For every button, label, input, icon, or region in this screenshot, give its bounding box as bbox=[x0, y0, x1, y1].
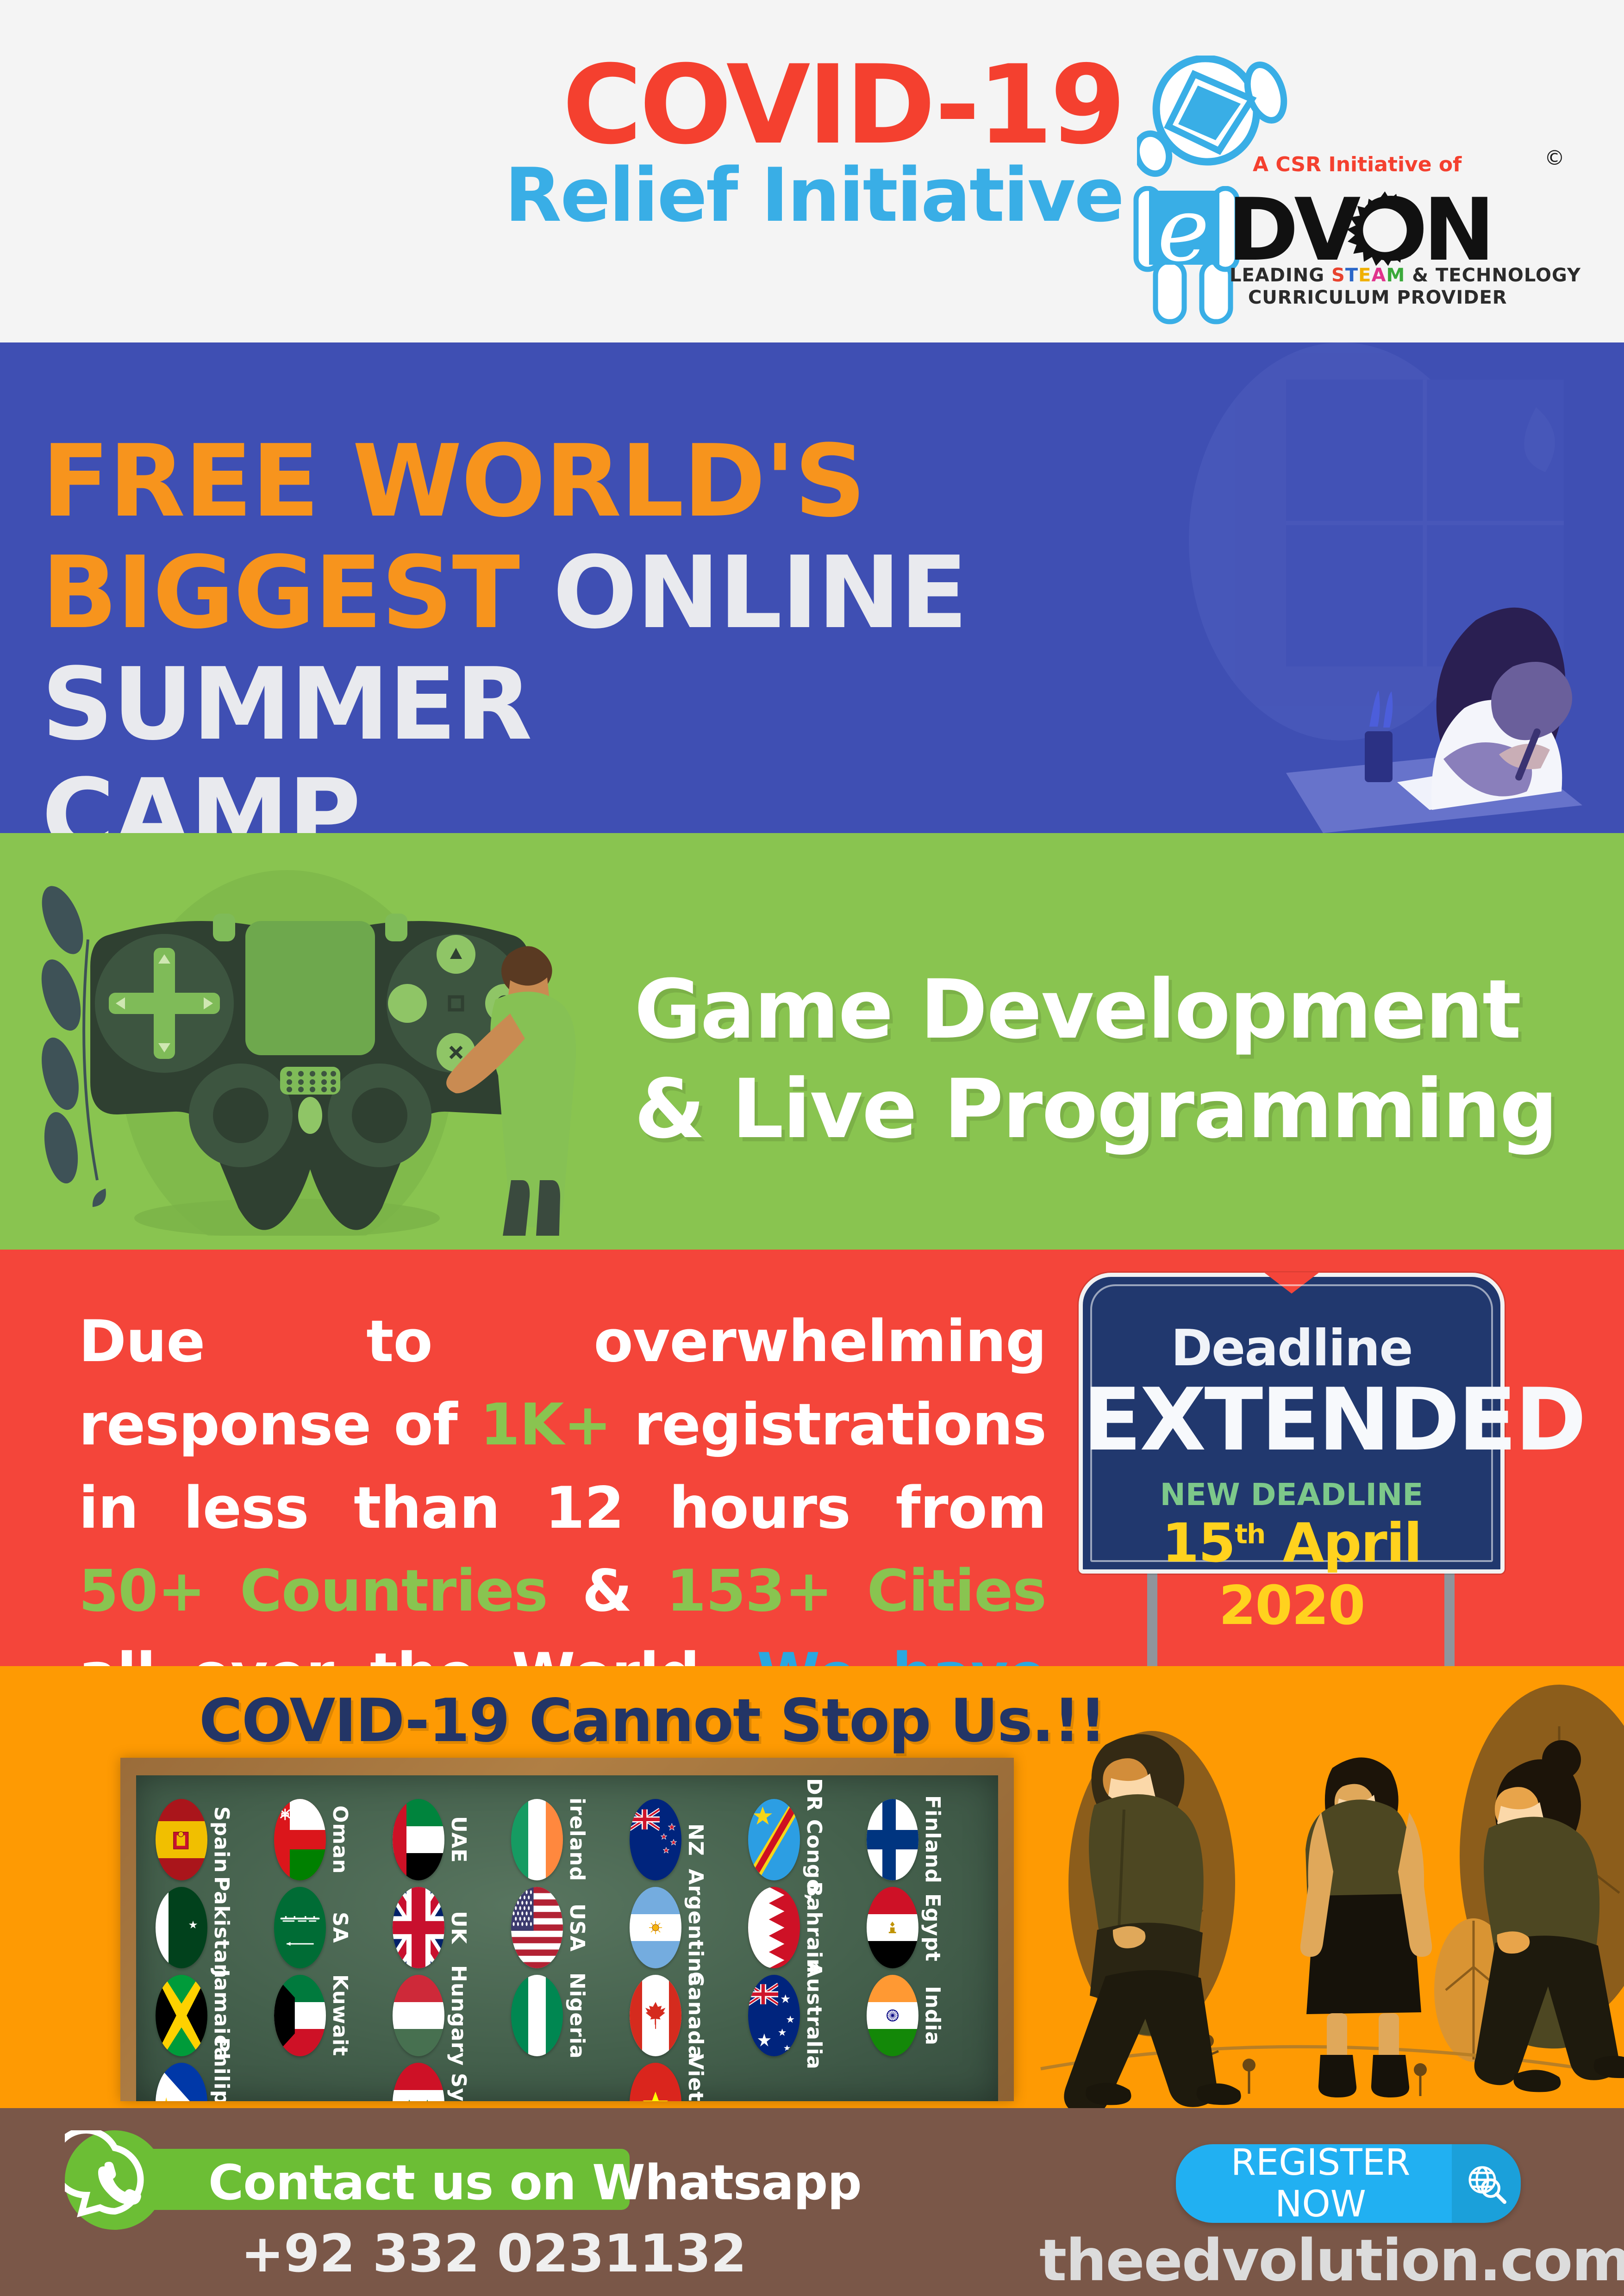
sign-new-deadline-label: NEW DEADLINE bbox=[1083, 1477, 1500, 1512]
flag-label: USA bbox=[567, 1904, 587, 1952]
masked-people-illustration bbox=[1013, 1671, 1624, 2108]
flag-cell-syria: Syria bbox=[393, 2060, 511, 2101]
course-line2: & Live Programming bbox=[634, 1062, 1557, 1157]
flag-bh-icon bbox=[748, 1887, 800, 1968]
hero-section: FREE WORLD'S BIGGEST ONLINE SUMMER CAMP bbox=[0, 342, 1624, 833]
chalkboard: SpainOmanUAEirelandNZDR Congo,FinlandPak… bbox=[120, 1758, 1014, 2101]
flag-ng-icon bbox=[511, 1975, 563, 2056]
flag-ca-icon bbox=[630, 1975, 681, 2056]
edvon-logo: A CSR Initiative of © e DVON bbox=[1137, 56, 1581, 296]
ann-part-5: 153+ Cities bbox=[666, 1558, 1046, 1624]
flag-cell-india: India bbox=[867, 1972, 985, 2060]
globe-search-icon bbox=[1451, 2161, 1521, 2206]
edvon-e-letter: e bbox=[1157, 186, 1209, 274]
flag-label: Canada bbox=[685, 1972, 706, 2060]
sign-extended-word: EXTENDED bbox=[1083, 1369, 1500, 1470]
flag-cell-sa: SA bbox=[274, 1884, 393, 1972]
chalkboard-surface: SpainOmanUAEirelandNZDR Congo,FinlandPak… bbox=[136, 1775, 998, 2101]
flag-cell-uk: UK bbox=[393, 1884, 511, 1972]
register-now-button[interactable]: REGISTER NOW bbox=[1176, 2144, 1521, 2223]
flag-ph-icon bbox=[156, 2063, 207, 2101]
countries-section: COVID-19 Cannot Stop Us.!! bbox=[0, 1666, 1624, 2108]
logo-tagline-line2: CURRICULUM PROVIDER bbox=[1248, 287, 1507, 308]
course-line1: Game Development bbox=[634, 962, 1520, 1057]
flag-ie-icon bbox=[511, 1799, 563, 1880]
logo-tagline-line1: LEADING STEAM & TECHNOLOGY bbox=[1230, 265, 1581, 286]
flag-cell-empty bbox=[748, 2060, 867, 2101]
flag-kw-icon bbox=[274, 1975, 326, 2056]
flag-vn-icon bbox=[630, 2063, 681, 2101]
flag-cell-empty bbox=[274, 2060, 393, 2101]
website-url[interactable]: theedvolution.com/camp bbox=[1039, 2228, 1624, 2294]
deadline-sign: Deadline EXTENDED NEW DEADLINE 15th Apri… bbox=[1065, 1268, 1528, 1666]
flag-label: Kuwait bbox=[330, 1974, 350, 2056]
flag-sa-icon bbox=[274, 1887, 326, 1968]
flag-cell-oman: Oman bbox=[274, 1796, 393, 1884]
flag-cell-kuwait: Kuwait bbox=[274, 1972, 393, 2060]
flag-label: Spain bbox=[211, 1806, 231, 1873]
csr-initiative-note: A CSR Initiative of bbox=[1253, 153, 1462, 176]
poster-footer: Contact us on Whatsapp +92 332 0231132 R… bbox=[0, 2108, 1624, 2296]
hero-heading: FREE WORLD'S BIGGEST ONLINE SUMMER CAMP bbox=[42, 426, 1384, 833]
flag-cell-argentina: Argentina bbox=[630, 1884, 748, 1972]
flag-sy-icon bbox=[393, 2063, 444, 2101]
sign-date: 15th April 2020 bbox=[1083, 1512, 1500, 1637]
sign-deadline-word: Deadline bbox=[1083, 1319, 1500, 1377]
header-titles: COVID-19 Relief Initiative bbox=[505, 56, 1123, 232]
whatsapp-label: Contact us on Whatsapp bbox=[208, 2154, 862, 2211]
ann-part-1: 1K+ bbox=[480, 1392, 611, 1458]
flag-label: Bahrain bbox=[804, 1881, 824, 1973]
flag-cell-philippines: Philippines bbox=[156, 2060, 274, 2101]
sign-date-day: 15 bbox=[1162, 1512, 1235, 1574]
whatsapp-number[interactable]: +92 332 0231132 bbox=[241, 2224, 746, 2284]
flag-cell-usa: USA bbox=[511, 1884, 630, 1972]
flag-cell-hungary: Hungary bbox=[393, 1972, 511, 2060]
flag-label: SA bbox=[330, 1912, 350, 1943]
flag-cell-drcongo: DR Congo, bbox=[748, 1796, 867, 1884]
flag-label: Hungary bbox=[448, 1965, 468, 2066]
flag-cell-canada: Canada bbox=[630, 1972, 748, 2060]
flag-label: Nigeria bbox=[567, 1972, 587, 2059]
flag-label: NZ bbox=[685, 1823, 706, 1856]
flag-label: ireland bbox=[567, 1798, 587, 1881]
ann-part-3: 50+ Countries bbox=[79, 1558, 548, 1624]
sign-date-ordinal: th bbox=[1235, 1518, 1265, 1549]
flag-label: Syria bbox=[448, 2073, 468, 2101]
flag-label: Oman bbox=[330, 1805, 350, 1874]
flag-label: UK bbox=[448, 1911, 468, 1944]
flag-label: Australia bbox=[804, 1962, 824, 2070]
flag-eg-icon bbox=[867, 1887, 918, 1968]
flag-gb-icon bbox=[393, 1887, 444, 1968]
course-section: Game Development & Live Programming bbox=[0, 833, 1624, 1250]
announcement-text: Due to overwhelming response of 1K+ regi… bbox=[79, 1300, 1046, 1666]
hero-line3: CAMP bbox=[42, 757, 360, 833]
gear-icon bbox=[1344, 190, 1425, 271]
flag-label: Philippines bbox=[211, 2037, 231, 2101]
whatsapp-icon bbox=[65, 2130, 164, 2230]
flag-label: Finland bbox=[922, 1795, 943, 1884]
country-flag-grid: SpainOmanUAEirelandNZDR Congo,FinlandPak… bbox=[156, 1796, 985, 2101]
page-subtitle: Relief Initiative bbox=[505, 158, 1123, 232]
flag-cd-icon bbox=[748, 1799, 800, 1880]
flag-cell-australia: Australia bbox=[748, 1972, 867, 2060]
flag-ar-icon bbox=[630, 1887, 681, 1968]
flag-label: Egypt bbox=[922, 1893, 943, 1962]
flag-cell-vietnam: Vietnam bbox=[630, 2060, 748, 2101]
flag-es-icon bbox=[156, 1799, 207, 1880]
flag-nz-icon bbox=[630, 1799, 681, 1880]
flag-cell-bahrain: Bahrain bbox=[748, 1884, 867, 1972]
hero-line1: FREE WORLD'S bbox=[42, 423, 865, 539]
course-heading: Game Development & Live Programming bbox=[634, 960, 1557, 1159]
poster-header: COVID-19 Relief Initiative A CSR Initiat… bbox=[0, 0, 1624, 342]
flag-cell-nigeria: Nigeria bbox=[511, 1972, 630, 2060]
poster-root: COVID-19 Relief Initiative A CSR Initiat… bbox=[0, 0, 1624, 2296]
flag-cell-ireland: ireland bbox=[511, 1796, 630, 1884]
flag-label: UAE bbox=[448, 1816, 468, 1863]
flag-in-icon bbox=[867, 1975, 918, 2056]
flag-cell-pakistan: Pakistan bbox=[156, 1884, 274, 1972]
flag-cell-uae: UAE bbox=[393, 1796, 511, 1884]
hero-line2-highlight: BIGGEST bbox=[42, 535, 519, 651]
flag-cell-empty bbox=[511, 2060, 630, 2101]
flag-cell-egypt: Egypt bbox=[867, 1884, 985, 1972]
flag-om-icon bbox=[274, 1799, 326, 1880]
ann-part-4: & bbox=[548, 1558, 667, 1624]
flag-cell-spain: Spain bbox=[156, 1796, 274, 1884]
whatsapp-icon-circle[interactable] bbox=[65, 2130, 164, 2230]
ann-part-6: all over the World. bbox=[79, 1641, 757, 1666]
flag-cell-finland: Finland bbox=[867, 1796, 985, 1884]
flag-label: Pakistan bbox=[211, 1876, 231, 1979]
sign-board: Deadline EXTENDED NEW DEADLINE 15th Apri… bbox=[1079, 1273, 1505, 1574]
flag-pk-icon bbox=[156, 1887, 207, 1968]
flag-hu-icon bbox=[393, 1975, 444, 2056]
flag-label: India bbox=[922, 1986, 943, 2046]
flag-us-icon bbox=[511, 1887, 563, 1968]
game-controller-illustration bbox=[28, 856, 616, 1236]
flag-cell-empty bbox=[867, 2060, 985, 2101]
flag-au-icon bbox=[748, 1975, 800, 2056]
flag-label: Argentina bbox=[685, 1869, 706, 1987]
countries-headline: COVID-19 Cannot Stop Us.!! bbox=[199, 1686, 1106, 1755]
flag-ae-icon bbox=[393, 1799, 444, 1880]
register-now-label: REGISTER NOW bbox=[1176, 2142, 1451, 2225]
flag-fi-icon bbox=[867, 1799, 918, 1880]
flag-jm-icon bbox=[156, 1975, 207, 2056]
page-title: COVID-19 bbox=[505, 56, 1123, 156]
copyright-icon: © bbox=[1544, 146, 1565, 170]
flag-label: Vietnam bbox=[685, 2054, 706, 2101]
